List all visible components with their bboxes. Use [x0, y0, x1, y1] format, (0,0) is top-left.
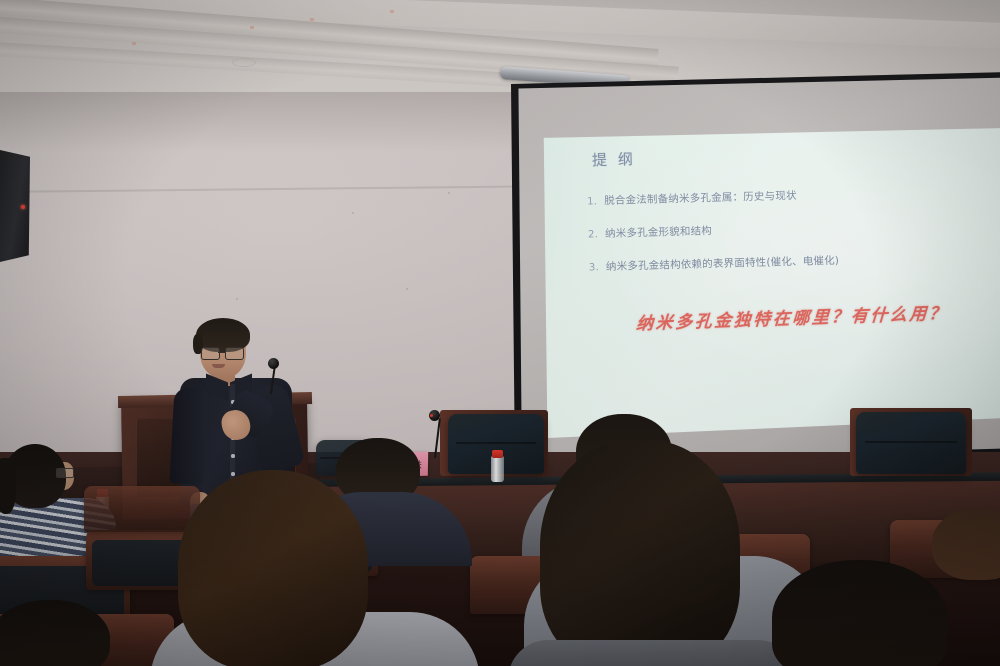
- presenter-left-arm: [170, 387, 209, 485]
- ceiling-marker: [390, 10, 394, 13]
- wall-speck: [448, 192, 450, 194]
- glasses-lens: [201, 347, 220, 360]
- presenter-glasses-icon: [201, 347, 245, 358]
- ceiling-vent-icon: [232, 58, 256, 67]
- ceiling-marker: [250, 26, 254, 29]
- wall-speck: [406, 288, 408, 290]
- bottle-cap-icon: [492, 450, 503, 458]
- audience-head: [932, 508, 1000, 580]
- audience-shoulders: [508, 640, 798, 666]
- audience-head-foreground: [540, 440, 740, 666]
- lecture-hall-photo: 提 纲 1. 脱合金法制备纳米多孔金属：历史与现状 2. 纳米多孔金形貌和结构 …: [0, 0, 1000, 666]
- presenter-mouth: [212, 364, 225, 368]
- shirt-button-icon: [231, 454, 235, 458]
- audience-hair: [0, 458, 16, 514]
- ceiling-marker: [132, 42, 136, 45]
- table-mic-head-icon[interactable]: [429, 410, 440, 421]
- audience-head-foreground: [772, 560, 947, 666]
- water-bottle[interactable]: [491, 456, 504, 482]
- audience-glasses-icon: [56, 468, 74, 478]
- wall-speaker-box: [0, 150, 30, 262]
- projected-slide-area: [540, 128, 1000, 438]
- presiding-chair-right: [856, 412, 966, 474]
- audience-head-foreground: [178, 470, 368, 666]
- ceiling-marker: [310, 18, 314, 21]
- auditorium-seat[interactable]: [84, 486, 200, 532]
- speaker-led-icon: [21, 205, 25, 209]
- podium-mic-head-icon[interactable]: [268, 358, 279, 369]
- wall-speck: [236, 298, 238, 300]
- wall-seam: [0, 185, 560, 193]
- wall-speck: [352, 212, 354, 214]
- shirt-button-icon: [231, 472, 235, 476]
- projector-glow: [540, 128, 1000, 438]
- glasses-lens: [225, 347, 244, 360]
- glasses-bridge: [218, 352, 225, 353]
